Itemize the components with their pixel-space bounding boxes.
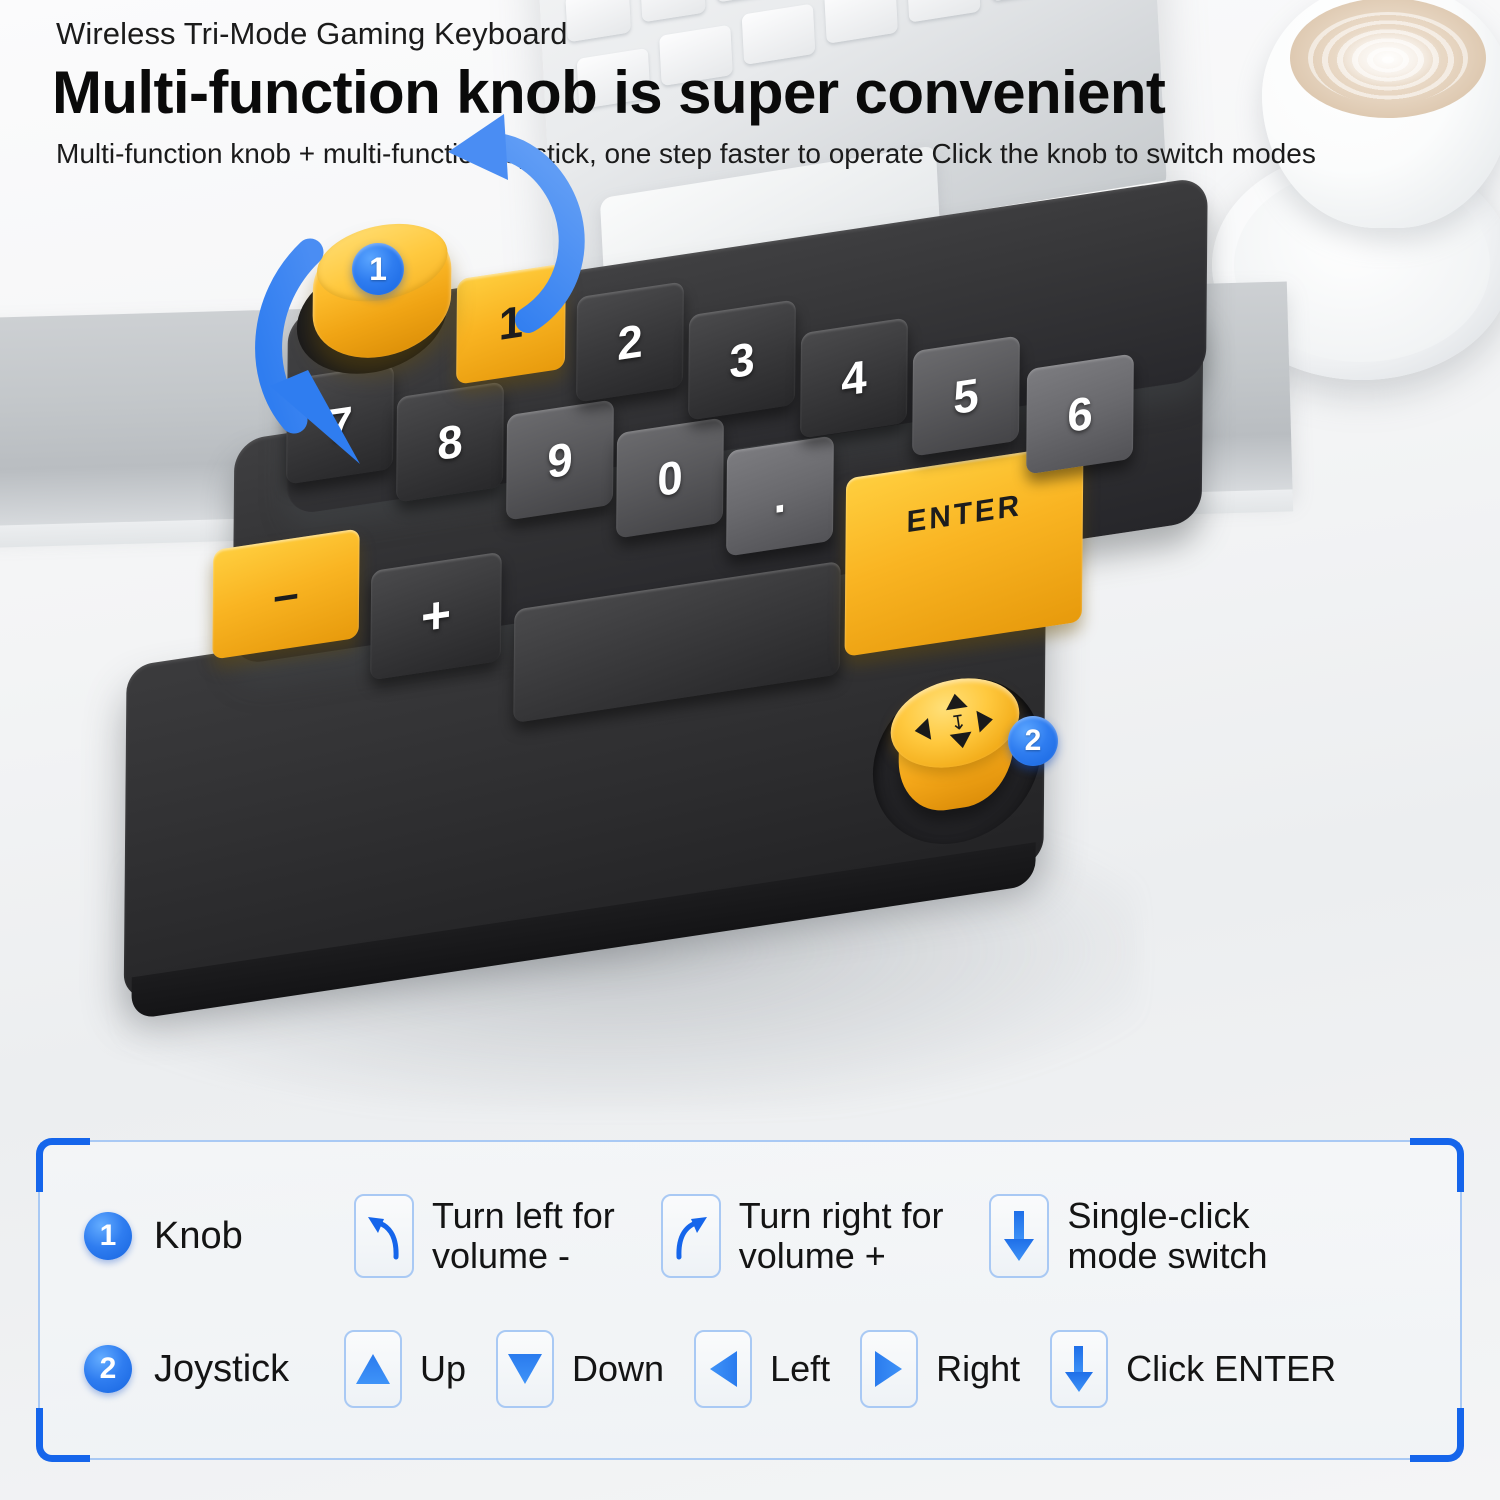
key-6[interactable]: 6 (1026, 353, 1134, 474)
legend-badge-2: 2 (84, 1345, 132, 1393)
key-2[interactable]: 2 (576, 281, 684, 402)
legend-row-joystick: 2 Joystick Up (84, 1330, 1336, 1408)
curved-arrow-up-right-icon (661, 1194, 721, 1278)
key-5[interactable]: 5 (912, 335, 1020, 456)
joystick-callout-badge: 2 (1008, 716, 1058, 766)
joystick-up-icon (944, 692, 968, 710)
arrow-down-icon (989, 1194, 1049, 1278)
key-3[interactable]: 3 (688, 299, 796, 420)
joystick-press-icon: ↧ (949, 712, 969, 734)
legend-item-left: Left (694, 1330, 830, 1408)
legend-item-turn-right: Turn right for volume + (661, 1194, 944, 1278)
joystick-right-icon (976, 708, 994, 732)
legend-label-down: Down (572, 1349, 664, 1389)
key-0[interactable]: 0 (616, 417, 724, 538)
product-kicker: Wireless Tri-Mode Gaming Keyboard (56, 16, 568, 52)
key-8[interactable]: 8 (396, 381, 504, 502)
key-9[interactable]: 9 (506, 399, 614, 520)
page-subtitle: Multi-function knob + multi-function joy… (56, 136, 1316, 172)
legend-label-right: Right (936, 1349, 1020, 1389)
joystick-left-icon (913, 718, 931, 742)
legend-corner-top-right (1410, 1138, 1464, 1192)
legend-label-left: Left (770, 1349, 830, 1389)
page-title: Multi-function knob is super convenient (52, 58, 1165, 127)
knob-callout-badge: 1 (352, 243, 404, 295)
legend-item-click-enter: Click ENTER (1050, 1330, 1336, 1408)
triangle-down-icon (496, 1330, 554, 1408)
key-4[interactable]: 4 (800, 317, 908, 438)
arrow-down-icon (1050, 1330, 1108, 1408)
triangle-up-icon (344, 1330, 402, 1408)
legend-corner-bottom-left (36, 1408, 90, 1462)
legend-item-right: Right (860, 1330, 1020, 1408)
legend-label-up: Up (420, 1349, 466, 1389)
legend-corner-top-left (36, 1138, 90, 1192)
legend-item-mode-switch: Single-click mode switch (989, 1194, 1267, 1278)
legend-item-down: Down (496, 1330, 664, 1408)
legend-title-knob: Knob (154, 1215, 354, 1258)
key-minus[interactable]: – (212, 528, 359, 659)
key-1[interactable]: 1 (456, 263, 566, 385)
legend-label-mode-switch: Single-click mode switch (1067, 1196, 1267, 1277)
key-plus[interactable]: + (370, 552, 502, 681)
legend-title-joystick: Joystick (154, 1348, 344, 1391)
product-feature-image: – + 7 8 9 0 . ENTER 1 2 (0, 0, 1500, 1500)
key-decimal[interactable]: . (726, 435, 834, 556)
legend-badge-1: 1 (84, 1212, 132, 1260)
control-legend-panel: 1 Knob Turn left for volume - (38, 1140, 1462, 1460)
key-7[interactable]: 7 (286, 363, 394, 484)
triangle-left-icon (694, 1330, 752, 1408)
legend-row-knob: 1 Knob Turn left for volume - (84, 1194, 1268, 1278)
legend-item-up: Up (344, 1330, 466, 1408)
legend-label-turn-left: Turn left for volume - (432, 1196, 615, 1277)
key-enter[interactable]: ENTER (845, 443, 1084, 657)
curved-arrow-up-left-icon (354, 1194, 414, 1278)
triangle-right-icon (860, 1330, 918, 1408)
legend-item-turn-left: Turn left for volume - (354, 1194, 615, 1278)
legend-label-click-enter: Click ENTER (1126, 1349, 1336, 1389)
legend-corner-bottom-right (1410, 1408, 1464, 1462)
legend-label-turn-right: Turn right for volume + (739, 1196, 944, 1277)
